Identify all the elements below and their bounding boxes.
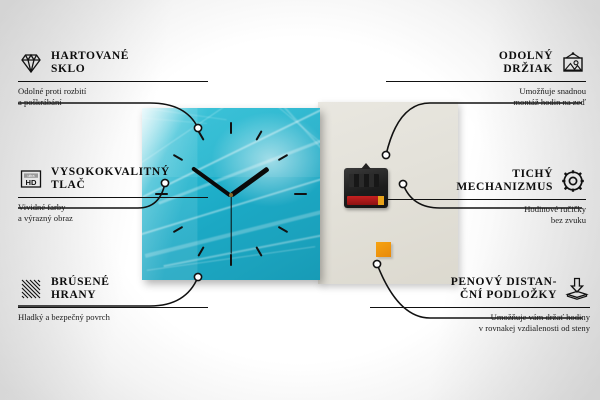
- mechanism-housing: [349, 174, 379, 187]
- feature-foam-spacers: PENOVÝ DISTAN- ČNÍ PODLOŽKY Umožňuje vám…: [370, 276, 590, 334]
- feature-subtitle-line1: Odolné proti rozbití: [18, 86, 208, 97]
- feature-title-line2: ČNÍ PODLOŽKY: [460, 289, 557, 302]
- feature-subtitle-line2: a poškrábání: [18, 97, 208, 108]
- feature-header: ultra HD VYSOKOKVALITNÝ TLAČ: [18, 166, 208, 192]
- ultra-hd-icon: ultra HD: [18, 167, 44, 191]
- feature-title-line1: BRÚSENÉ: [51, 276, 110, 289]
- feature-titles: VYSOKOKVALITNÝ TLAČ: [51, 166, 170, 192]
- clock-center-pin: [229, 193, 233, 197]
- mechanism-hanger: [361, 163, 371, 169]
- second-hand: [230, 195, 231, 253]
- divider: [18, 197, 208, 198]
- feature-title-line2: DRŽIAK: [503, 63, 553, 76]
- feature-subtitle-line2: a výrazný obraz: [18, 213, 208, 224]
- feature-titles: HARTOVANÉ SKLO: [51, 50, 129, 76]
- feature-titles: TICHÝ MECHANIZMUS: [456, 168, 553, 194]
- hatched-edge-icon: [18, 277, 44, 301]
- feature-title-line1: VYSOKOKVALITNÝ: [51, 166, 170, 179]
- feature-title-line2: SKLO: [51, 63, 85, 76]
- divider: [386, 81, 586, 82]
- divider: [18, 81, 208, 82]
- feature-title-line2: TLAČ: [51, 179, 85, 192]
- feature-subtitle-line2: bez zvuku: [386, 215, 586, 226]
- divider: [18, 307, 208, 308]
- feature-ground-edges: BRÚSENÉ HRANY Hladký a bezpečný povrch: [18, 276, 208, 323]
- feature-high-quality-print: ultra HD VYSOKOKVALITNÝ TLAČ Vividné far…: [18, 166, 208, 224]
- feature-subtitle-line2: v rovnakej vzdialenosti od steny: [370, 323, 590, 334]
- foam-spacer-pad: [376, 242, 391, 257]
- diamond-icon: [18, 51, 44, 75]
- feature-title-line1: TICHÝ: [512, 168, 553, 181]
- feature-durable-holder: ODOLNÝ DRŽIAK Umožňuje snadnou montáž ho…: [386, 50, 586, 108]
- feature-titles: ODOLNÝ DRŽIAK: [499, 50, 553, 76]
- feature-titles: BRÚSENÉ HRANY: [51, 276, 110, 302]
- feature-subtitle-line1: Hodinové ručičky: [386, 204, 586, 215]
- svg-text:HD: HD: [26, 178, 37, 187]
- divider: [386, 199, 586, 200]
- feature-title-line1: HARTOVANÉ: [51, 50, 129, 63]
- feature-header: HARTOVANÉ SKLO: [18, 50, 208, 76]
- hour-marker: [294, 193, 307, 195]
- hour-marker: [230, 254, 232, 266]
- feature-title-line2: MECHANIZMUS: [456, 181, 553, 194]
- gear-icon: [560, 169, 586, 193]
- feature-title-line1: ODOLNÝ: [499, 50, 553, 63]
- feature-subtitle-line1: Umožňuje snadnou: [386, 86, 586, 97]
- product-infographic: HARTOVANÉ SKLO Odolné proti rozbití a po…: [0, 0, 600, 400]
- feature-subtitle-line2: montáž hodin na zeď: [386, 97, 586, 108]
- hour-marker: [230, 122, 232, 134]
- framed-picture-icon: [560, 51, 586, 75]
- feature-titles: PENOVÝ DISTAN- ČNÍ PODLOŽKY: [451, 276, 557, 302]
- feature-subtitle-line1: Vividné farby: [18, 202, 208, 213]
- feature-tempered-glass: HARTOVANÉ SKLO Odolné proti rozbití a po…: [18, 50, 208, 108]
- feature-header: PENOVÝ DISTAN- ČNÍ PODLOŽKY: [370, 276, 590, 302]
- battery: [347, 196, 383, 205]
- clock-mechanism: [344, 168, 388, 208]
- feature-title-line1: PENOVÝ DISTAN-: [451, 276, 557, 289]
- feature-header: ODOLNÝ DRŽIAK: [386, 50, 586, 76]
- divider: [370, 307, 590, 308]
- feature-header: BRÚSENÉ HRANY: [18, 276, 208, 302]
- feature-title-line2: HRANY: [51, 289, 96, 302]
- stacked-arrow-down-icon: [564, 277, 590, 301]
- feature-silent-mechanism: TICHÝ MECHANIZMUS: [386, 168, 586, 226]
- feature-subtitle-line1: Umožňuje vám držať hodiny: [370, 312, 590, 323]
- feature-header: TICHÝ MECHANIZMUS: [386, 168, 586, 194]
- feature-subtitle-line1: Hladký a bezpečný povrch: [18, 312, 208, 323]
